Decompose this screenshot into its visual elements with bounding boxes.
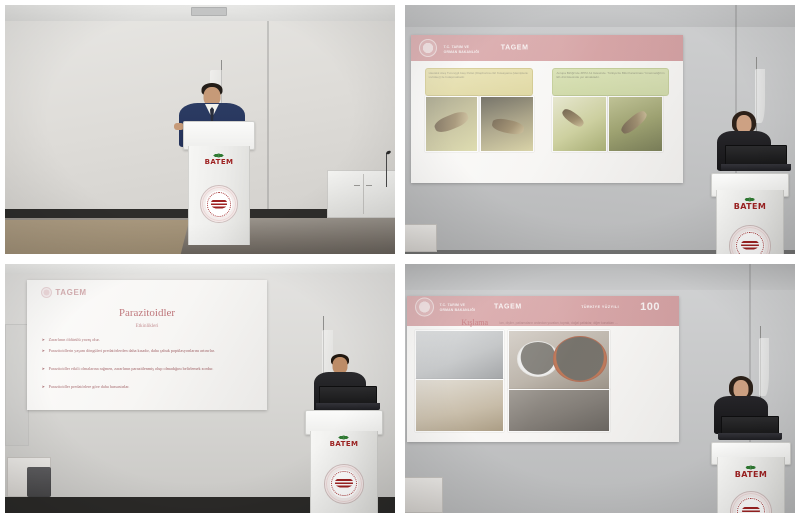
ministry-emblem <box>200 185 238 223</box>
slide-subtitle: Etkinlikleri <box>27 324 267 329</box>
photo-panel-slide-parazitoidler: TAGEM Parazitoidler Etkinlikleri Zararlı… <box>5 264 395 513</box>
slide-image-greenhouse-bench <box>415 330 504 380</box>
ceiling <box>405 264 795 290</box>
slide-pests: T.C. TARIM VE ORMAN BAKANLIĞI TAGEM Hast… <box>411 35 683 183</box>
slide-ministry-line2: ORMAN BAKANLIĞI <box>444 51 480 55</box>
slide-title: Parazitoidler <box>27 307 267 319</box>
projection-screen: T.C. TARIM VE ORMAN BAKANLIĞI TAGEM Hast… <box>411 35 683 183</box>
photo-collage: BATEM T.C. TARIM VE ORMAN BAKANLIĞI <box>0 0 800 518</box>
photo-panel-slide-pests: T.C. TARIM VE ORMAN BAKANLIĞI TAGEM Hast… <box>405 5 795 254</box>
slide-header-band: T.C. TARIM VE ORMAN BAKANLIĞI TAGEM <box>411 35 683 61</box>
podium: BATEM <box>183 121 255 245</box>
ministry-emblem <box>324 464 364 504</box>
podium-brand: BATEM <box>734 197 767 211</box>
projection-screen: T.C. TARIM VE ORMAN BAKANLIĞI TAGEM TÜRK… <box>407 296 679 442</box>
slide-institute-label: TAGEM <box>55 288 86 297</box>
slide-image-insect-3 <box>552 96 607 153</box>
laptop <box>721 416 779 440</box>
side-table <box>405 477 443 513</box>
slide-bullet: Zararlının öldürülü yavaş olur. <box>49 337 251 342</box>
slide-bullet: Parazitoidlerin yaşam döngüleri predatör… <box>49 348 251 353</box>
projection-screen: TAGEM Parazitoidler Etkinlikleri Zararlı… <box>27 280 267 410</box>
photo-panel-slide-kislama: T.C. TARIM VE ORMAN BAKANLIĞI TAGEM TÜRK… <box>405 264 795 513</box>
slide-institute-logo: TAGEM <box>41 287 86 298</box>
podium-brand-label: BATEM <box>734 202 767 211</box>
podium: BATEM <box>305 410 383 513</box>
slide-bullet: Parazitoidler etkili olmalarına rağmen, … <box>49 366 251 371</box>
podium-brand: BATEM <box>330 435 359 448</box>
slide-title: Kışlama <box>461 318 488 327</box>
laptop <box>319 386 377 410</box>
slide-callout-right: Avrupa Birliği'nde ZPP2 A1 listesinde. T… <box>552 68 669 96</box>
centenary-label: 100 <box>640 301 660 313</box>
floor-carpet <box>5 220 189 254</box>
slide-image-insect-2 <box>480 96 534 153</box>
slide-image-storage-corner <box>415 379 504 432</box>
podium-brand: BATEM <box>735 465 768 479</box>
side-table <box>405 224 437 252</box>
podium: BATEM <box>711 442 791 513</box>
slide-header-band: T.C. TARIM VE ORMAN BAKANLIĞI TAGEM TÜRK… <box>407 296 679 326</box>
photo-panel-speaker-at-podium: BATEM <box>5 5 395 254</box>
centenary-sub-label: TÜRKİYE YÜZYILI <box>581 305 619 309</box>
tagem-emblem-icon <box>41 287 52 298</box>
podium-brand-label: BATEM <box>735 470 768 479</box>
podium-brand-label: BATEM <box>205 158 234 166</box>
slide-image-two-bowls <box>508 330 611 390</box>
slide-subtitle: ları, dişiler, patlamaların ardından yuv… <box>499 321 657 325</box>
slide-image-insect-1 <box>425 96 479 153</box>
podium-brand: BATEM <box>205 153 234 166</box>
slide-ministry-line2: ORMAN BAKANLIĞI <box>440 309 476 313</box>
slide-image-insect-4 <box>608 96 663 153</box>
podium-brand-label: BATEM <box>330 440 359 448</box>
slide-parazitoidler: TAGEM Parazitoidler Etkinlikleri Zararlı… <box>27 280 267 410</box>
chair <box>27 467 51 497</box>
side-cabinet <box>327 170 395 218</box>
podium: BATEM <box>711 173 789 254</box>
ministry-emblem-icon <box>415 297 434 316</box>
slide-institute-label: TAGEM <box>501 45 529 52</box>
microphone-stand <box>386 153 387 187</box>
slide-callout-left: Hastalık Ateş Turunçgil Ateş Peltet (Dia… <box>425 68 534 96</box>
slide-institute-label: TAGEM <box>494 303 522 310</box>
ministry-emblem-icon <box>419 39 437 57</box>
slide-kislama: T.C. TARIM VE ORMAN BAKANLIĞI TAGEM TÜRK… <box>407 296 679 442</box>
laptop <box>725 145 787 171</box>
bowl-terracotta <box>553 336 607 381</box>
slide-image-soil-tray <box>508 389 611 432</box>
ceiling-vent-icon <box>191 7 227 16</box>
slide-bullet: Parazitoidler predatörlere göre daha has… <box>49 384 251 389</box>
door <box>5 324 29 446</box>
ceiling <box>5 264 395 274</box>
